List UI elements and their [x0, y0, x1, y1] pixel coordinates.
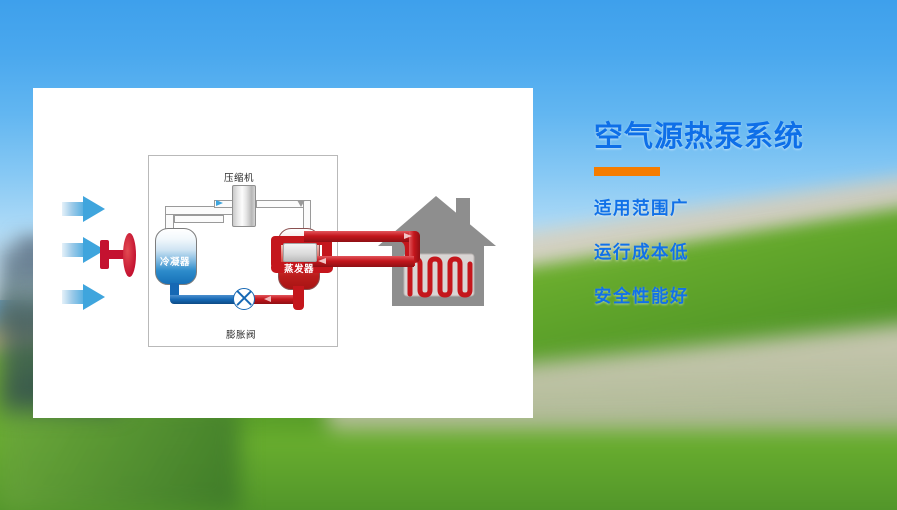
flow-arrow-supply	[404, 233, 412, 239]
flow-arrow-compressor-out	[297, 200, 305, 207]
compressor-body	[232, 185, 256, 227]
pipe-supply-to-house	[304, 231, 420, 242]
feature-item-3: 安全性能好	[594, 283, 804, 308]
slide-root: 压缩机 冷凝器 膨胀阀 蒸发器	[0, 0, 897, 510]
feature-item-1: 适用范围广	[594, 195, 804, 220]
pipe-gas-left-inner	[174, 215, 224, 223]
flow-arrow-valve-out	[264, 296, 271, 302]
background-grass-left	[0, 402, 240, 510]
condenser-label: 冷凝器	[160, 254, 190, 268]
evaporator-plate	[283, 243, 317, 262]
floor-heating-coil	[410, 259, 470, 295]
page-title: 空气源热泵系统	[594, 120, 804, 153]
flow-arrow-return	[318, 258, 326, 264]
expansion-valve-icon	[233, 288, 255, 310]
pipe-evaporator-outlet	[293, 286, 304, 310]
feature-item-2: 运行成本低	[594, 239, 804, 264]
expansion-valve-label: 膨胀阀	[226, 327, 256, 341]
house-with-floor-heating	[378, 196, 498, 308]
evaporator-coil-bend-left	[271, 236, 281, 270]
text-column: 空气源热泵系统 适用范围广 运行成本低 安全性能好	[594, 120, 804, 308]
pipe-liquid-blue	[170, 295, 235, 304]
evaporator-label: 蒸发器	[284, 261, 314, 275]
compressor-label: 压缩机	[224, 170, 254, 184]
orange-accent-bar	[594, 167, 660, 176]
flow-arrow-compressor-in	[216, 200, 223, 206]
